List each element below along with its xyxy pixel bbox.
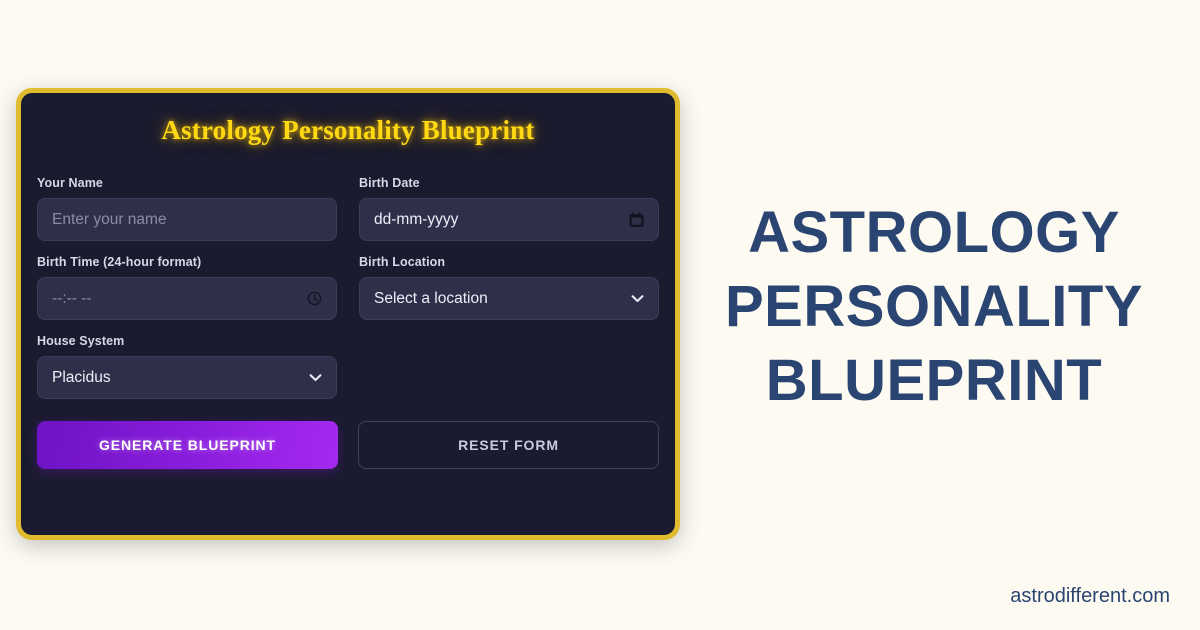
chevron-down-icon[interactable]: [309, 373, 322, 382]
input-your-name[interactable]: Enter your name: [37, 198, 337, 241]
house-system-value: Placidus: [52, 369, 301, 387]
select-birth-location[interactable]: Select a location: [359, 277, 659, 320]
input-birth-date[interactable]: dd-mm-yyyy: [359, 198, 659, 241]
field-house-system: House System Placidus: [37, 334, 337, 399]
label-house-system: House System: [37, 334, 337, 348]
birth-time-value: --:-- --: [52, 290, 299, 308]
chevron-down-icon[interactable]: [631, 294, 644, 303]
field-birth-location: Birth Location Select a location: [359, 255, 659, 320]
reset-form-button[interactable]: RESET FORM: [358, 421, 659, 469]
label-your-name: Your Name: [37, 176, 337, 190]
birth-location-value: Select a location: [374, 290, 623, 308]
your-name-placeholder: Enter your name: [52, 211, 322, 229]
label-birth-time: Birth Time (24-hour format): [37, 255, 337, 269]
birth-date-value: dd-mm-yyyy: [374, 211, 621, 229]
site-url: astrodifferent.com: [1010, 585, 1170, 608]
input-birth-time[interactable]: --:-- --: [37, 277, 337, 320]
clock-icon[interactable]: [307, 291, 322, 306]
field-birth-time: Birth Time (24-hour format) --:-- --: [37, 255, 337, 320]
generate-blueprint-button[interactable]: GENERATE BLUEPRINT: [37, 421, 338, 469]
astrology-form-card: Astrology Personality Blueprint Your Nam…: [16, 88, 680, 540]
field-your-name: Your Name Enter your name: [37, 176, 337, 241]
field-birth-date: Birth Date dd-mm-yyyy: [359, 176, 659, 241]
page-headline: ASTROLOGY PERSONALITY BLUEPRINT: [700, 196, 1168, 419]
label-birth-date: Birth Date: [359, 176, 659, 190]
calendar-icon[interactable]: [629, 212, 644, 228]
label-birth-location: Birth Location: [359, 255, 659, 269]
select-house-system[interactable]: Placidus: [37, 356, 337, 399]
button-row: GENERATE BLUEPRINT RESET FORM: [21, 421, 675, 469]
form-grid: Your Name Enter your name Birth Date dd-…: [21, 176, 675, 413]
card-title: Astrology Personality Blueprint: [21, 115, 675, 146]
